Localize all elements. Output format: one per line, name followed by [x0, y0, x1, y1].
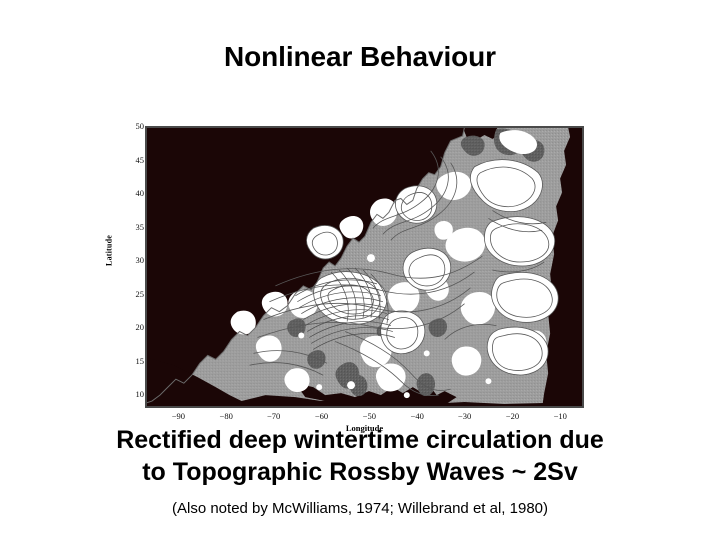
- y-tick-label: 35: [120, 222, 144, 231]
- x-tick-label: −50: [363, 411, 376, 421]
- x-tick-label: −80: [220, 411, 233, 421]
- x-tick-label: −60: [315, 411, 328, 421]
- plot-area: [145, 126, 584, 408]
- figure-caption: Rectified deep wintertime circulation du…: [0, 424, 720, 488]
- y-tick-label: 10: [120, 390, 144, 399]
- x-tick-label: −30: [458, 411, 471, 421]
- x-tick-label: −70: [267, 411, 280, 421]
- y-tick-label: 25: [120, 290, 144, 299]
- y-tick-label: 30: [120, 256, 144, 265]
- x-tick-label: −10: [554, 411, 567, 421]
- page-title: Nonlinear Behaviour: [0, 41, 720, 73]
- y-tick-label: 50: [120, 122, 144, 131]
- y-tick-label: 40: [120, 189, 144, 198]
- x-tick-label: −40: [411, 411, 424, 421]
- x-tick-label: −20: [506, 411, 519, 421]
- y-tick-label: 20: [120, 323, 144, 332]
- figure-contour-map: Latitude 50 45 40 35 30 25 20 15 10: [96, 118, 596, 423]
- caption-line-2: to Topographic Rossby Waves ~ 2Sv: [0, 456, 720, 488]
- contour-map-svg: [146, 127, 583, 407]
- y-tick-label: 15: [120, 357, 144, 366]
- y-axis-ticks: 50 45 40 35 30 25 20 15 10: [120, 126, 144, 408]
- caption-line-1: Rectified deep wintertime circulation du…: [0, 424, 720, 456]
- figure-subcaption: (Also noted by McWilliams, 1974; Willebr…: [0, 500, 720, 517]
- y-tick-label: 45: [120, 155, 144, 164]
- x-tick-label: −90: [172, 411, 185, 421]
- y-axis-label: Latitude: [105, 221, 114, 281]
